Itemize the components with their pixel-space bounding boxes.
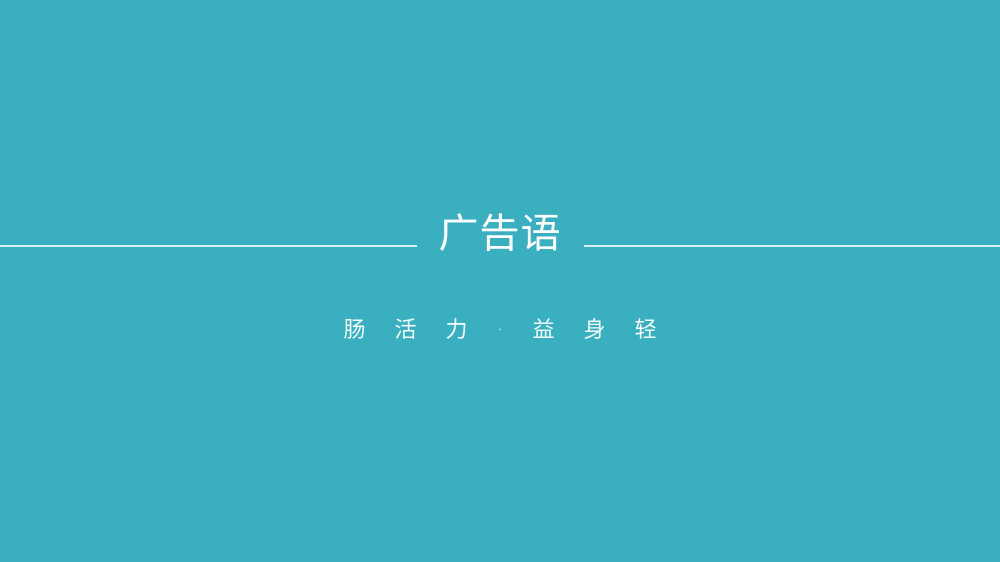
slide-title-container: 广告语	[0, 214, 1000, 254]
slide-subtitle: 肠 活 力 · 益 身 轻	[333, 320, 668, 342]
slide-subtitle-container: 肠 活 力 · 益 身 轻	[0, 320, 1000, 342]
slide-canvas: 广告语 肠 活 力 · 益 身 轻	[0, 0, 1000, 562]
slide-title: 广告语	[439, 214, 562, 254]
